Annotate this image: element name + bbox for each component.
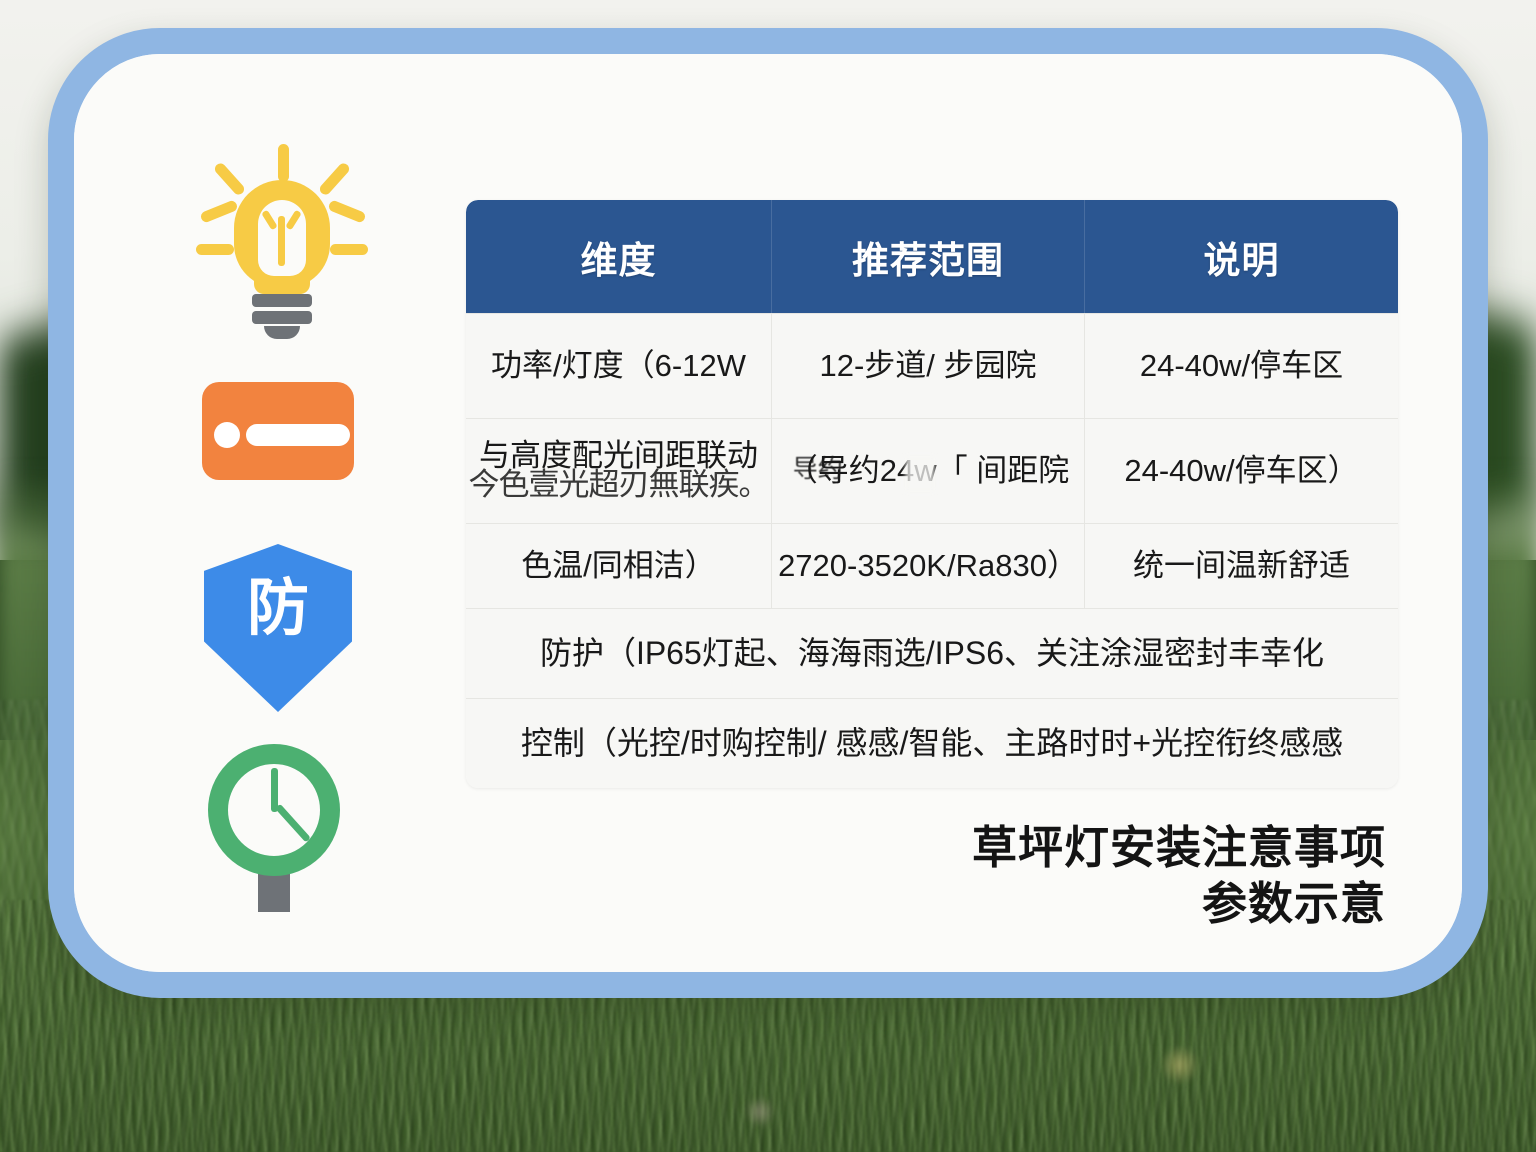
cell-dimension: 与高度配光间距联动 今色壹光超刃無联疾。 — [466, 419, 771, 523]
cell-note: 24-40w/停车区 — [1084, 314, 1398, 418]
column-header-dimension: 维度 — [466, 200, 771, 313]
page-title-line2: 参数示意 — [746, 876, 1386, 932]
info-card: 防 维度 推荐范围 说明 功率/灯度（6-12W 12-步道/ 步园院 24-4… — [74, 54, 1462, 972]
table-header-row: 维度 推荐范围 说明 — [466, 200, 1398, 313]
ruler-bar-icon — [246, 424, 350, 446]
ruler-dot-icon — [214, 422, 240, 448]
parameters-table: 维度 推荐范围 说明 功率/灯度（6-12W 12-步道/ 步园院 24-40w… — [466, 200, 1398, 788]
cell-range: 12-步道/ 步园院 — [771, 314, 1084, 418]
cell-note: 统一间温新舒适 — [1084, 524, 1398, 608]
table-row: 与高度配光间距联动 今色壹光超刃無联疾。 导约 （导约24w「 间距院 24-4… — [466, 418, 1398, 523]
ruler-icon — [170, 382, 390, 482]
cell-dimension-artifact-line: 今色壹光超刃無联疾。 — [469, 468, 769, 503]
clock-icon — [170, 744, 390, 919]
table-row: 色温/同相洁） 2720-3520K/Ra830） 统一间温新舒适 — [466, 523, 1398, 608]
page-title: 草坪灯安装注意事项 参数示意 — [746, 820, 1386, 932]
cell-dimension: 色温/同相洁） — [466, 524, 771, 608]
lightbulb-icon — [170, 144, 390, 344]
page-title-line1: 草坪灯安装注意事项 — [746, 820, 1386, 876]
info-card-frame: 防 维度 推荐范围 说明 功率/灯度（6-12W 12-步道/ 步园院 24-4… — [48, 28, 1488, 998]
icon-rail: 防 — [170, 144, 390, 964]
table-row: 功率/灯度（6-12W 12-步道/ 步园院 24-40w/停车区 — [466, 313, 1398, 418]
column-header-range: 推荐范围 — [771, 200, 1084, 313]
shield-icon-label: 防 — [204, 578, 352, 640]
table-row: 防护（IP65灯起、海海雨选/IPS6、关注涂湿密封丰幸化 — [466, 608, 1398, 698]
cell-range: 导约 （导约24w「 间距院 — [771, 419, 1084, 523]
table-row: 控制（光控/时购控制/ 感感/智能、主路时时+光控衔终感感 — [466, 698, 1398, 788]
cell-note: 24-40w/停车区） — [1084, 419, 1398, 523]
shield-icon: 防 — [170, 544, 390, 714]
cell-control-full: 控制（光控/时购控制/ 感感/智能、主路时时+光控衔终感感 — [466, 699, 1398, 788]
cell-range-smear — [905, 456, 935, 492]
column-header-note: 说明 — [1084, 200, 1398, 313]
cell-protection-full: 防护（IP65灯起、海海雨选/IPS6、关注涂湿密封丰幸化 — [466, 609, 1398, 698]
cell-dimension: 功率/灯度（6-12W — [466, 314, 771, 418]
cell-range: 2720-3520K/Ra830） — [771, 524, 1084, 608]
